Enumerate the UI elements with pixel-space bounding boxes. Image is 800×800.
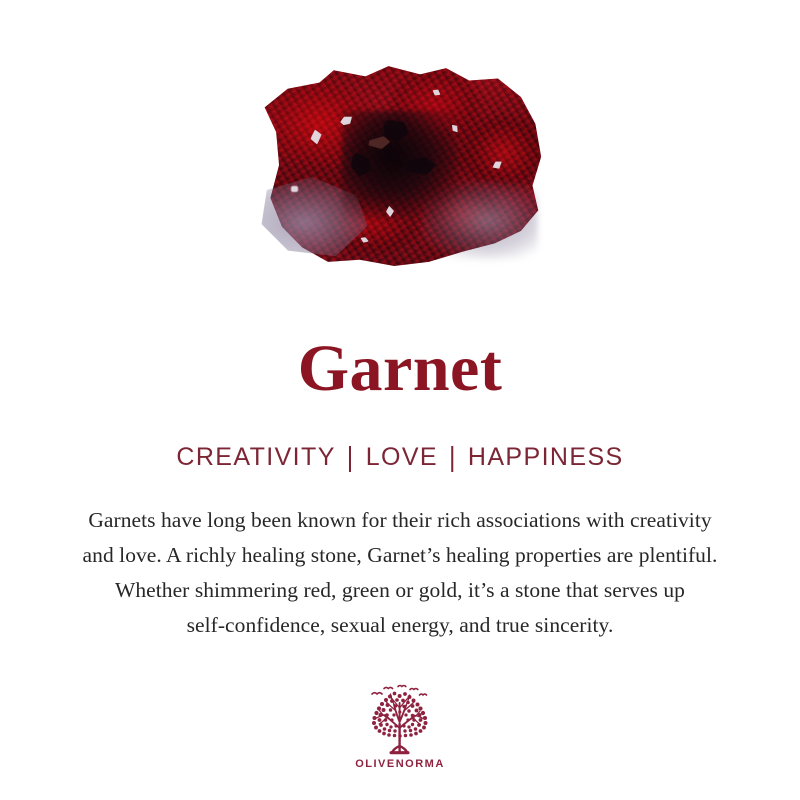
keyword-separator: | — [336, 442, 366, 473]
keyword-love: LOVE — [366, 444, 438, 472]
page-title: Garnet — [0, 336, 800, 402]
keyword-separator: | — [438, 442, 468, 473]
brand-wordmark: OLIVENORMA — [355, 759, 445, 770]
garnet-mineral-inclusion — [291, 186, 298, 192]
description-text: Garnets have long been known for their r… — [20, 503, 780, 643]
description-line: self-confidence, sexual energy, and true… — [20, 608, 780, 643]
keyword-creativity: CREATIVITY — [176, 444, 335, 472]
tree-of-life-with-birds-icon — [361, 684, 439, 756]
hero-image-area — [0, 0, 800, 300]
keyword-list: CREATIVITY|LOVE|HAPPINESS — [0, 444, 800, 472]
description-line: and love. A richly healing stone, Garnet… — [20, 538, 780, 573]
garnet-info-card: Garnet CREATIVITY|LOVE|HAPPINESS Garnets… — [0, 0, 800, 800]
keyword-happiness: HAPPINESS — [468, 444, 624, 472]
description-line: Whether shimmering red, green or gold, i… — [20, 573, 780, 608]
description-line: Garnets have long been known for their r… — [20, 503, 780, 538]
brand-logo: OLIVENORMA — [0, 684, 800, 770]
garnet-crystal-image — [256, 62, 544, 268]
